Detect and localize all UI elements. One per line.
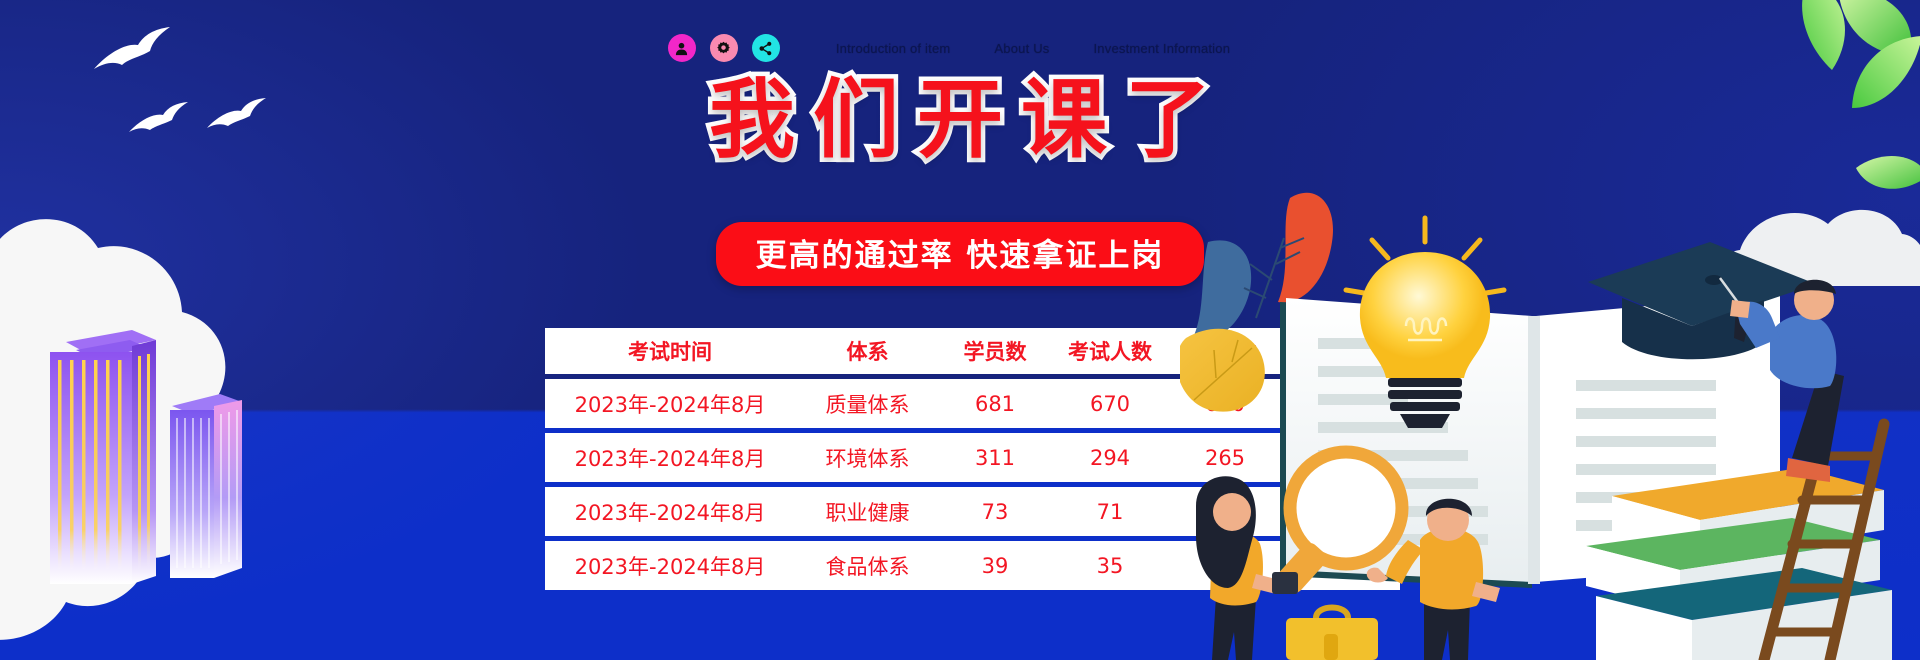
leaf-icon [1180, 329, 1265, 412]
building-shape [168, 388, 252, 580]
promo-banner: Introduction of item About Us Investment… [0, 0, 1920, 660]
leaf-icon [1278, 193, 1333, 303]
column-header-examinees: 考试人数 [1050, 336, 1170, 366]
nav-icon-group [668, 34, 780, 62]
gear-icon[interactable] [710, 34, 738, 62]
cell-exam-time: 2023年-2024年8月 [545, 443, 795, 473]
cell-trainees: 681 [940, 392, 1050, 416]
cell-examinees: 670 [1050, 392, 1170, 416]
column-header-trainees: 学员数 [940, 336, 1050, 366]
cell-exam-time: 2023年-2024年8月 [545, 497, 795, 527]
column-header-system: 体系 [795, 336, 940, 366]
column-header-exam-time: 考试时间 [545, 336, 795, 366]
cell-examinees: 71 [1050, 500, 1170, 524]
cell-system: 食品体系 [795, 551, 940, 581]
cell-trainees: 39 [940, 554, 1050, 578]
hero-title: 我们开课了 [691, 72, 1229, 168]
building-shape [44, 326, 174, 586]
cell-examinees: 35 [1050, 554, 1170, 578]
cell-examinees: 294 [1050, 446, 1170, 470]
hero-subtitle: 更高的通过率 快速拿证上岗 [716, 222, 1205, 286]
cell-system: 环境体系 [795, 443, 940, 473]
nav-link-group: Introduction of item About Us Investment… [814, 41, 1252, 56]
nav-link-introduction[interactable]: Introduction of item [814, 41, 973, 56]
cell-trainees: 311 [940, 446, 1050, 470]
cell-system: 质量体系 [795, 389, 940, 419]
cell-trainees: 73 [940, 500, 1050, 524]
hero-title-wrap: 我们开课了 [0, 72, 1920, 168]
share-icon[interactable] [752, 34, 780, 62]
top-navigation: Introduction of item About Us Investment… [0, 34, 1920, 62]
nav-link-investment-information[interactable]: Investment Information [1072, 41, 1253, 56]
leaf-icon [1192, 240, 1251, 341]
briefcase-icon [1286, 608, 1378, 660]
cell-exam-time: 2023年-2024年8月 [545, 389, 795, 419]
user-icon[interactable] [668, 34, 696, 62]
nav-link-about-us[interactable]: About Us [972, 41, 1071, 56]
cell-exam-time: 2023年-2024年8月 [545, 551, 795, 581]
education-illustration [1180, 190, 1920, 660]
cell-system: 职业健康 [795, 497, 940, 527]
